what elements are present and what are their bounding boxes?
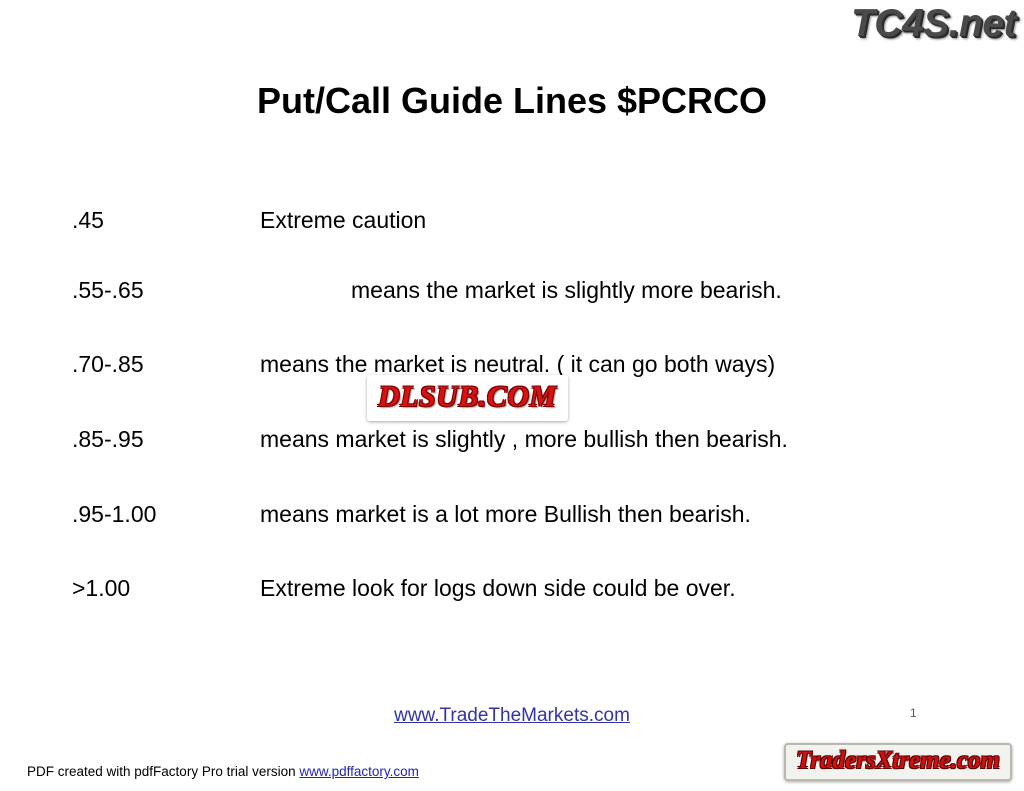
guideline-description: Extreme caution: [260, 205, 426, 235]
list-item: .95-1.00means market is a lot more Bulli…: [72, 499, 972, 529]
guideline-description: means market is a lot more Bullish then …: [260, 499, 751, 529]
guideline-description: Extreme look for logs down side could be…: [260, 573, 736, 603]
guideline-description: means the market is neutral. ( it can go…: [260, 349, 880, 379]
brand-bottom-logo: TradersXtreme.com: [784, 743, 1012, 781]
watermark-stamp: DLSUB.COM: [367, 375, 568, 421]
guideline-level: >1.00: [72, 573, 260, 603]
pdf-footer-text: PDF created with pdfFactory Pro trial ve…: [27, 764, 299, 779]
list-item: .55-.65means the market is slightly more…: [72, 275, 972, 305]
guideline-level: .55-.65: [72, 275, 260, 305]
brand-top-logo: TC4S.net: [851, 2, 1016, 46]
guideline-level: .70-.85: [72, 349, 260, 379]
footer-link-anchor[interactable]: www.TradeTheMarkets.com: [394, 705, 630, 726]
page-title: Put/Call Guide Lines $PCRCO: [0, 80, 1024, 122]
guideline-level: .45: [72, 205, 260, 235]
page-number: 1: [910, 706, 917, 720]
footer-link[interactable]: www.TradeTheMarkets.com: [0, 705, 1024, 727]
guideline-level: .85-.95: [72, 424, 260, 454]
guideline-level: .95-1.00: [72, 499, 260, 529]
list-item: >1.00Extreme look for logs down side cou…: [72, 573, 972, 603]
list-item: .85-.95means market is slightly , more b…: [72, 424, 892, 454]
pdf-footer-link[interactable]: www.pdffactory.com: [299, 764, 419, 779]
guideline-description: means the market is slightly more bearis…: [260, 275, 782, 305]
pdf-footer: PDF created with pdfFactory Pro trial ve…: [27, 764, 419, 779]
list-item: .45Extreme caution: [72, 205, 972, 235]
guideline-description: means market is slightly , more bullish …: [260, 424, 860, 454]
